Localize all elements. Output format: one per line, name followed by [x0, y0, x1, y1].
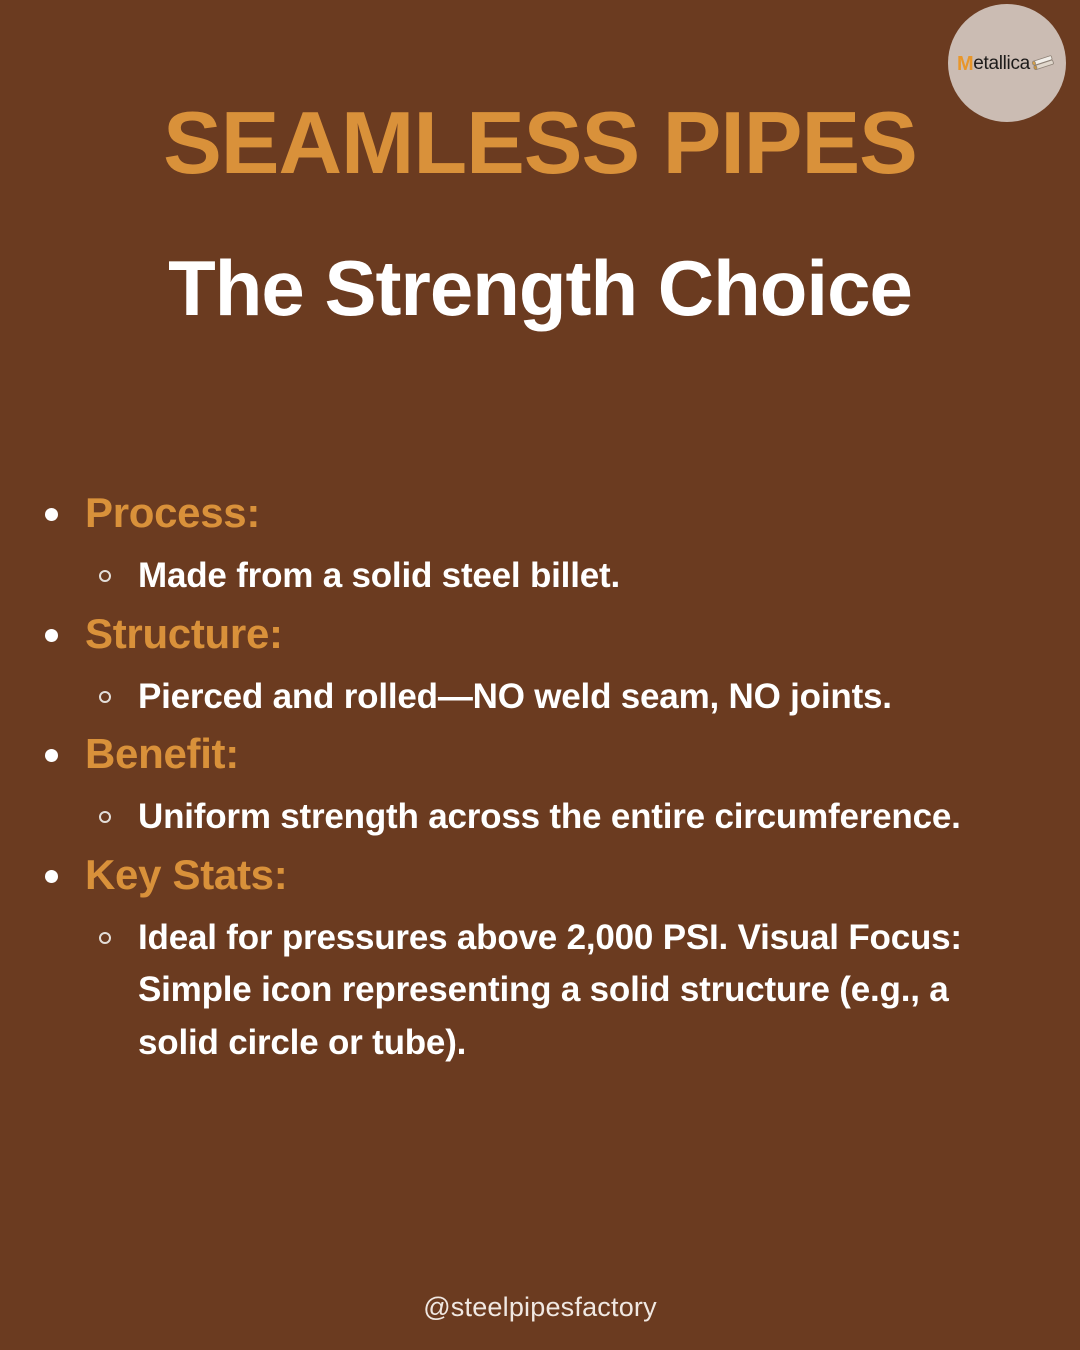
page-subtitle: The Strength Choice	[0, 248, 1080, 329]
bullet-sub-row: Made from a solid steel billet.	[0, 550, 1080, 603]
poster-canvas: Metallica SEAMLESS PIPES The Strength Ch…	[0, 0, 1080, 1350]
sub-bullet-circle-icon	[99, 691, 111, 703]
bullet-detail: Made from a solid steel billet.	[138, 550, 1028, 603]
bullet-detail: Pierced and rolled—NO weld seam, NO join…	[138, 671, 1028, 724]
bullet-group-key-stats: Key Stats: Ideal for pressures above 2,0…	[0, 848, 1080, 1070]
bullet-detail: Uniform strength across the entire circu…	[138, 791, 1028, 844]
brand-logo-wordmark: etallica	[973, 54, 1030, 73]
bullet-label: Key Stats:	[85, 848, 1080, 902]
brand-logo-lockup: Metallica	[957, 53, 1057, 73]
bullet-sub-row: Pierced and rolled—NO weld seam, NO join…	[0, 671, 1080, 724]
sub-bullet-circle-icon	[99, 570, 111, 582]
bullet-label: Process:	[85, 486, 1080, 540]
bullet-lead-row: Structure:	[0, 607, 1080, 669]
bullet-group-structure: Structure: Pierced and rolled—NO weld se…	[0, 607, 1080, 724]
social-handle: @steelpipesfactory	[0, 1292, 1080, 1323]
bullet-detail: Ideal for pressures above 2,000 PSI. Vis…	[138, 912, 1028, 1070]
bullet-sub-row: Uniform strength across the entire circu…	[0, 791, 1080, 844]
bullet-list: Process: Made from a solid steel billet.…	[0, 486, 1080, 1073]
bullet-lead-row: Process:	[0, 486, 1080, 548]
bullet-lead-row: Benefit:	[0, 727, 1080, 789]
sub-bullet-circle-icon	[99, 811, 111, 823]
pipe-bundle-icon	[1031, 53, 1057, 73]
bullet-disc-icon	[45, 870, 58, 883]
bullet-group-process: Process: Made from a solid steel billet.	[0, 486, 1080, 603]
metallica-m-icon: M	[957, 54, 973, 74]
page-title: SEAMLESS PIPES	[0, 98, 1080, 188]
bullet-group-benefit: Benefit: Uniform strength across the ent…	[0, 727, 1080, 844]
bullet-disc-icon	[45, 508, 58, 521]
bullet-lead-row: Key Stats:	[0, 848, 1080, 910]
bullet-sub-row: Ideal for pressures above 2,000 PSI. Vis…	[0, 912, 1080, 1070]
bullet-disc-icon	[45, 749, 58, 762]
bullet-disc-icon	[45, 629, 58, 642]
sub-bullet-circle-icon	[99, 932, 111, 944]
bullet-label: Structure:	[85, 607, 1080, 661]
bullet-label: Benefit:	[85, 727, 1080, 781]
